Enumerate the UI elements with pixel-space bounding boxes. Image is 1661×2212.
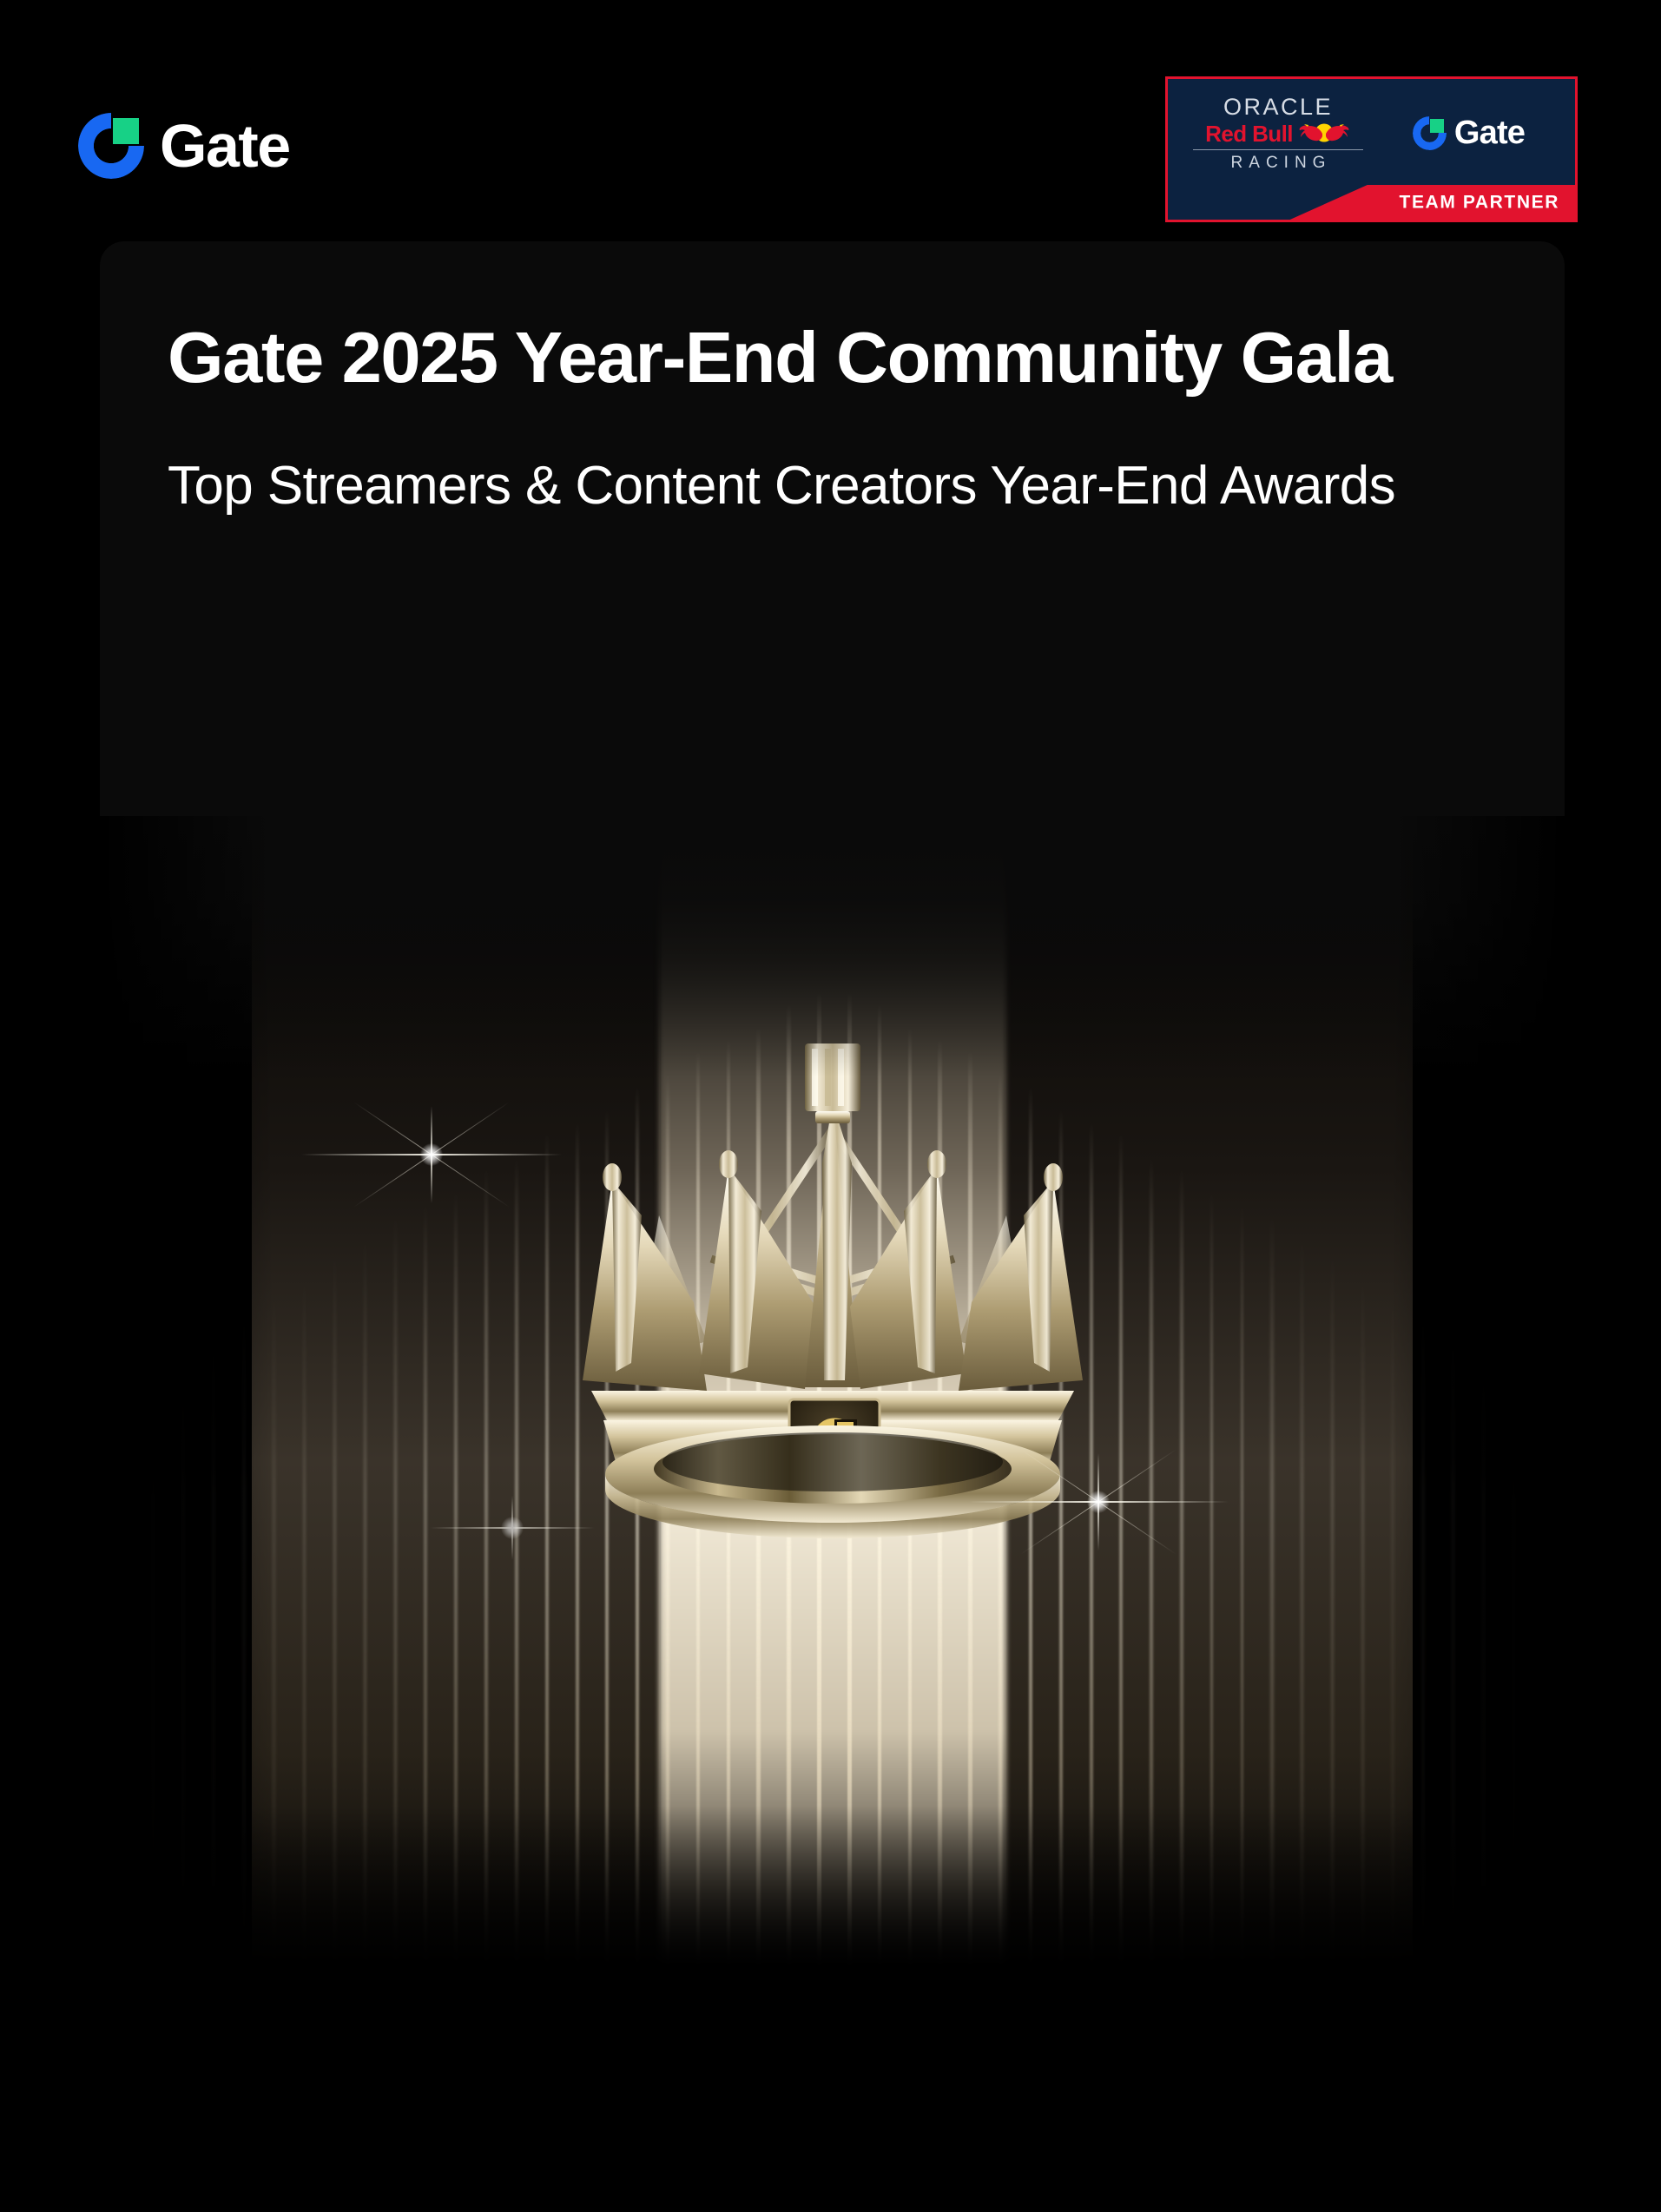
oracle-wordmark: ORACLE (1223, 95, 1333, 119)
header: Gate ORACLE Red Bull (0, 0, 1661, 243)
event-card: Gate 2025 Year-End Community Gala Top St… (100, 241, 1565, 1988)
page-subtitle: Top Streamers & Content Creators Year-En… (168, 454, 1524, 517)
red-bull-charging-bulls-icon (1297, 122, 1351, 145)
red-bull-racing-lockup: ORACLE Red Bull (1168, 95, 1369, 171)
red-bull-row: Red Bull (1205, 122, 1351, 145)
partner-badge-main: ORACLE Red Bull (1168, 79, 1575, 187)
partner-badge[interactable]: ORACLE Red Bull (1165, 76, 1578, 222)
gate-logo-icon (78, 113, 144, 179)
gate-logo-chip (113, 118, 139, 144)
racing-wordmark: RACING (1225, 155, 1332, 171)
gate-wordmark: Gate (1454, 116, 1525, 149)
hero-bottom-fade (100, 1806, 1565, 1988)
gate-logo-chip (1430, 119, 1444, 133)
gate-logo-icon (1413, 116, 1447, 150)
team-partner-bar: TEAM PARTNER (1168, 185, 1575, 220)
red-bull-wordmark: Red Bull (1205, 122, 1293, 145)
poster-page: Gate ORACLE Red Bull (0, 0, 1661, 2212)
team-partner-label: TEAM PARTNER (1400, 194, 1559, 212)
card-text-block: Gate 2025 Year-End Community Gala Top St… (100, 241, 1524, 517)
crown-icon (529, 998, 1137, 1554)
page-title: Gate 2025 Year-End Community Gala (168, 313, 1524, 404)
badge-gate-lockup: Gate (1369, 116, 1575, 150)
gate-wordmark: Gate (160, 115, 290, 176)
gate-brand-logo[interactable]: Gate (78, 113, 290, 179)
footer-spacer (0, 1988, 1661, 2212)
badge-divider (1193, 149, 1363, 150)
crown-trophy-hero-image (100, 816, 1565, 1988)
hero-top-fade (100, 816, 1565, 1076)
